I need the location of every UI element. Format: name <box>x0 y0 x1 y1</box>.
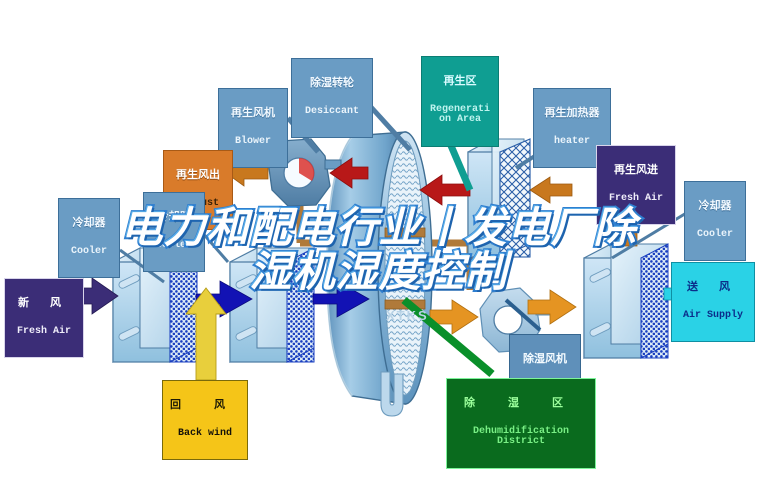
label-cooler-left-lower-en: Cooler <box>63 247 115 258</box>
label-regeneration-blower-cn: 再生风机 <box>223 108 283 120</box>
label-air-supply-cn: 送 风 <box>676 282 750 294</box>
regen-intake-arrow <box>530 177 572 203</box>
label-regeneration-heater-cn: 再生加热器 <box>538 108 606 120</box>
label-air-supply-en: Air Supply <box>676 311 750 322</box>
label-dehumidify-blower-cn: 除湿风机 <box>514 354 576 366</box>
label-cooler-right-cn: 冷却器 <box>689 201 741 213</box>
label-back-wind: 回 风 Back wind <box>162 380 248 460</box>
label-regeneration-area: 再生区 Regenerati on Area <box>421 56 499 147</box>
cooler-coil-2 <box>230 248 314 362</box>
label-cooler-left-upper-cn: 冷却器 <box>148 212 200 224</box>
label-cooler-right-en: Cooler <box>689 230 741 241</box>
label-cooler-right: 冷却器 Cooler <box>684 181 746 261</box>
label-regeneration-intake-cn: 再生风进 <box>601 165 671 177</box>
label-air-supply: 送 风 Air Supply <box>671 262 755 342</box>
cooler-coil-3 <box>584 244 668 358</box>
label-desiccant-wheel: 除湿转轮 Desiccant <box>291 58 373 138</box>
label-regeneration-intake-en: Fresh Air <box>601 194 671 205</box>
label-cooler-left-lower-cn: 冷却器 <box>63 218 115 230</box>
label-fresh-air-inlet-cn: 新 风 <box>9 298 79 310</box>
label-dehumidification-area-cn: 除 湿 区 <box>451 398 591 410</box>
label-cooler-left-upper-en: Cooler <box>148 241 200 252</box>
label-regeneration-blower-en: Blower <box>223 137 283 148</box>
watermark-text: XTKS <box>386 308 429 323</box>
label-regeneration-intake: 再生风进 Fresh Air <box>596 145 676 225</box>
label-back-wind-en: Back wind <box>167 429 243 440</box>
label-dehumidification-area-en: Dehumidification District <box>451 427 591 448</box>
label-fresh-air-inlet-en: Fresh Air <box>9 327 79 338</box>
label-desiccant-wheel-en: Desiccant <box>296 107 368 118</box>
label-cooler-left-upper: 冷却器 Cooler <box>143 192 205 272</box>
label-fresh-air-inlet: 新 风 Fresh Air <box>4 278 84 358</box>
label-desiccant-wheel-cn: 除湿转轮 <box>296 78 368 90</box>
label-regeneration-area-en: Regenerati on Area <box>426 105 494 126</box>
label-back-wind-cn: 回 风 <box>167 400 243 412</box>
diagram-canvas: XTKS 再生风机 Blower 除湿转轮 Desiccant 再生风出 Exh… <box>0 0 757 488</box>
label-regeneration-area-cn: 再生区 <box>426 76 494 88</box>
label-dehumidification-area: 除 湿 区 Dehumidification District <box>446 378 596 469</box>
heater-coil <box>468 139 530 257</box>
label-regeneration-exhaust-cn: 再生风出 <box>168 170 228 182</box>
label-cooler-left-lower: 冷却器 Cooler <box>58 198 120 278</box>
